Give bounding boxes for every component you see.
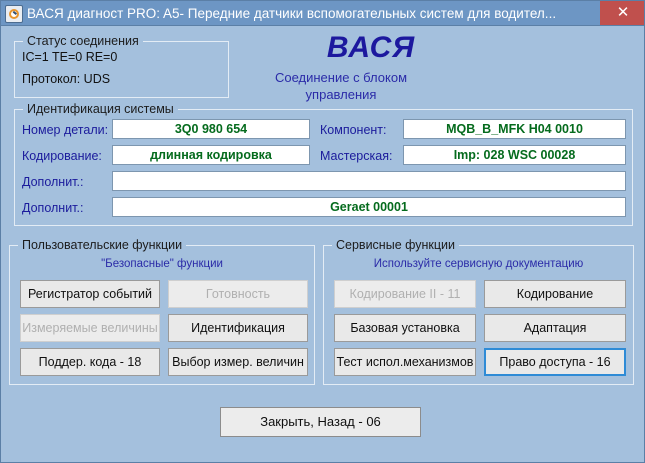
status-counters: IC=1 TE=0 RE=0: [22, 50, 117, 64]
button-supported-codes-18[interactable]: Поддер. кода - 18: [20, 348, 160, 376]
button-access-rights-16[interactable]: Право доступа - 16: [484, 348, 626, 376]
coding-value[interactable]: длинная кодировка: [112, 145, 310, 165]
extra-field-2-value[interactable]: Geraet 00001: [112, 197, 626, 217]
extra-field-2-label: Дополнит.:: [22, 201, 83, 215]
service-functions-subtitle: Используйте сервисную документацию: [324, 258, 633, 270]
workshop-value[interactable]: Imp: 028 WSC 00028: [403, 145, 626, 165]
button-adaptation[interactable]: Адаптация: [484, 314, 626, 342]
button-close-back-06[interactable]: Закрыть, Назад - 06: [220, 407, 421, 437]
app-icon: [5, 5, 23, 23]
service-functions-group: Сервисные функции Используйте сервисную …: [323, 245, 634, 385]
part-number-label: Номер детали:: [22, 123, 108, 137]
brand-logo: ВАСЯ: [261, 31, 481, 65]
button-coding[interactable]: Кодирование: [484, 280, 626, 308]
button-readiness: Готовность: [168, 280, 308, 308]
connection-status-title: Статус соединения: [23, 34, 143, 48]
button-event-log[interactable]: Регистратор событий: [20, 280, 160, 308]
button-basic-setting[interactable]: Базовая установка: [334, 314, 476, 342]
application-window: ВАСЯ диагност PRO: A5- Передние датчики …: [0, 0, 645, 463]
extra-field-1-value[interactable]: [112, 171, 626, 191]
service-functions-title: Сервисные функции: [332, 238, 459, 252]
button-select-measuring[interactable]: Выбор измер. величин: [168, 348, 308, 376]
part-number-value[interactable]: 3Q0 980 654: [112, 119, 310, 139]
button-identification[interactable]: Идентификация: [168, 314, 308, 342]
coding-label: Кодирование:: [22, 149, 102, 163]
title-bar[interactable]: ВАСЯ диагност PRO: A5- Передние датчики …: [1, 1, 645, 26]
button-coding-ii-11: Кодирование II - 11: [334, 280, 476, 308]
button-measuring-values: Измеряемые величины: [20, 314, 160, 342]
button-output-test[interactable]: Тест испол.механизмов: [334, 348, 476, 376]
component-label: Компонент:: [320, 123, 387, 137]
user-functions-group: Пользовательские функции "Безопасные" фу…: [9, 245, 315, 385]
extra-field-1-label: Дополнит.:: [22, 175, 83, 189]
user-functions-title: Пользовательские функции: [18, 238, 186, 252]
connection-status-group: Статус соединения IC=1 TE=0 RE=0 Протоко…: [14, 41, 229, 98]
vcds-logo-icon: [9, 9, 19, 19]
system-identification-group: Идентификация системы Номер детали: 3Q0 …: [14, 109, 633, 226]
window-title: ВАСЯ диагност PRO: A5- Передние датчики …: [27, 4, 587, 23]
workshop-label: Мастерская:: [320, 149, 392, 163]
user-functions-subtitle: "Безопасные" функции: [10, 258, 314, 270]
component-value[interactable]: MQB_B_MFK H04 0010: [403, 119, 626, 139]
connection-message: Соединение с блоком управления: [241, 69, 441, 103]
status-protocol: Протокол: UDS: [22, 72, 110, 86]
close-window-button[interactable]: ✕: [600, 1, 645, 25]
system-identification-title: Идентификация системы: [23, 102, 178, 116]
